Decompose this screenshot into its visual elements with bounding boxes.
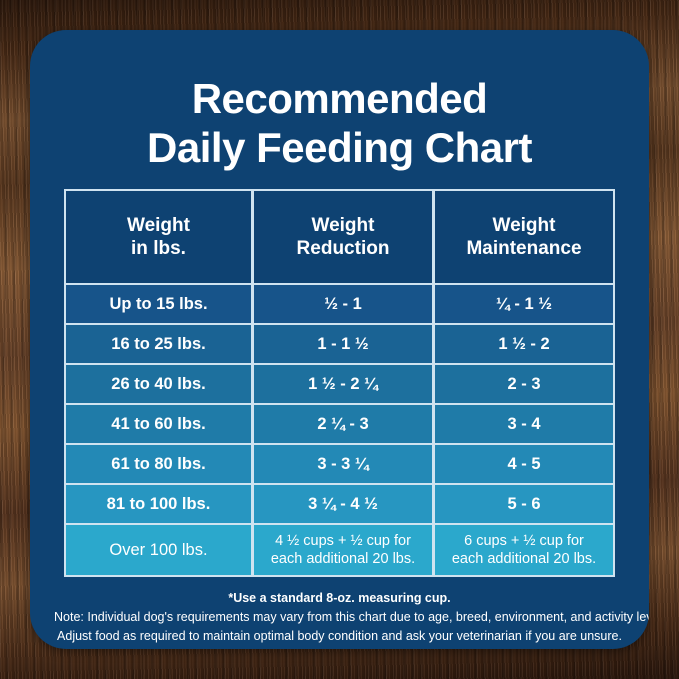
cell-maintenance: 4 - 5 (432, 445, 613, 483)
column-header-weight-line-1: Weight (127, 215, 190, 236)
cell-maintenance: 6 cups + ½ cup for each additional 20 lb… (432, 525, 613, 575)
cell-maintenance: ¼ - 1 ½ (432, 285, 613, 323)
cell-reduction: 3 ¼ - 4 ½ (251, 485, 432, 523)
cell-weight: 81 to 100 lbs. (66, 485, 251, 523)
cell-weight: 26 to 40 lbs. (66, 365, 251, 403)
feeding-chart-card: Recommended Daily Feeding Chart Weight i… (30, 30, 649, 649)
cell-reduction: 4 ½ cups + ½ cup for each additional 20 … (251, 525, 432, 575)
cell-weight: Over 100 lbs. (66, 525, 251, 575)
column-header-reduction-line-1: Weight (312, 215, 375, 236)
cell-maintenance: 1 ½ - 2 (432, 325, 613, 363)
cell-reduction: 1 - 1 ½ (251, 325, 432, 363)
cell-maintenance-line-2: each additional 20 lbs. (452, 551, 596, 567)
column-header-weight-reduction: Weight Reduction (251, 191, 432, 283)
page-title: Recommended Daily Feeding Chart (30, 30, 649, 172)
cell-reduction: 1 ½ - 2 ¼ (251, 365, 432, 403)
column-header-weight-line-2: in lbs. (131, 238, 186, 259)
cell-weight: 41 to 60 lbs. (66, 405, 251, 443)
cell-weight: 16 to 25 lbs. (66, 325, 251, 363)
feeding-table: Weight in lbs. Weight Reduction Weight M… (64, 189, 615, 577)
cell-maintenance: 3 - 4 (432, 405, 613, 443)
footnote-note-line-2: Adjust food as required to maintain opti… (54, 627, 625, 646)
footnote-note-line-1: Note: Individual dog's requirements may … (54, 608, 625, 627)
cell-weight: 61 to 80 lbs. (66, 445, 251, 483)
cell-reduction: 3 - 3 ¼ (251, 445, 432, 483)
footnote-measuring-cup: *Use a standard 8-oz. measuring cup. (54, 589, 625, 608)
cell-maintenance: 2 - 3 (432, 365, 613, 403)
cell-maintenance: 5 - 6 (432, 485, 613, 523)
column-header-maintenance-line-2: Maintenance (466, 238, 581, 259)
table-row: Over 100 lbs. 4 ½ cups + ½ cup for each … (66, 523, 613, 575)
table-row: 16 to 25 lbs. 1 - 1 ½ 1 ½ - 2 (66, 323, 613, 363)
table-row: 26 to 40 lbs. 1 ½ - 2 ¼ 2 - 3 (66, 363, 613, 403)
title-line-1: Recommended (30, 74, 649, 123)
column-header-reduction-line-2: Reduction (297, 238, 390, 259)
cell-reduction: ½ - 1 (251, 285, 432, 323)
cell-weight: Up to 15 lbs. (66, 285, 251, 323)
cell-maintenance-line-1: 6 cups + ½ cup for (464, 533, 584, 549)
cell-reduction-line-2: each additional 20 lbs. (271, 551, 415, 567)
table-row: 41 to 60 lbs. 2 ¼ - 3 3 - 4 (66, 403, 613, 443)
column-header-maintenance-line-1: Weight (493, 215, 556, 236)
table-row: Up to 15 lbs. ½ - 1 ¼ - 1 ½ (66, 283, 613, 323)
table-row: 81 to 100 lbs. 3 ¼ - 4 ½ 5 - 6 (66, 483, 613, 523)
table-row: 61 to 80 lbs. 3 - 3 ¼ 4 - 5 (66, 443, 613, 483)
cell-reduction: 2 ¼ - 3 (251, 405, 432, 443)
column-header-weight: Weight in lbs. (66, 191, 251, 283)
cell-reduction-line-1: 4 ½ cups + ½ cup for (275, 533, 411, 549)
column-header-weight-maintenance: Weight Maintenance (432, 191, 613, 283)
title-line-2: Daily Feeding Chart (30, 123, 649, 172)
table-header-row: Weight in lbs. Weight Reduction Weight M… (66, 191, 613, 283)
footnote: *Use a standard 8-oz. measuring cup. Not… (30, 589, 649, 647)
